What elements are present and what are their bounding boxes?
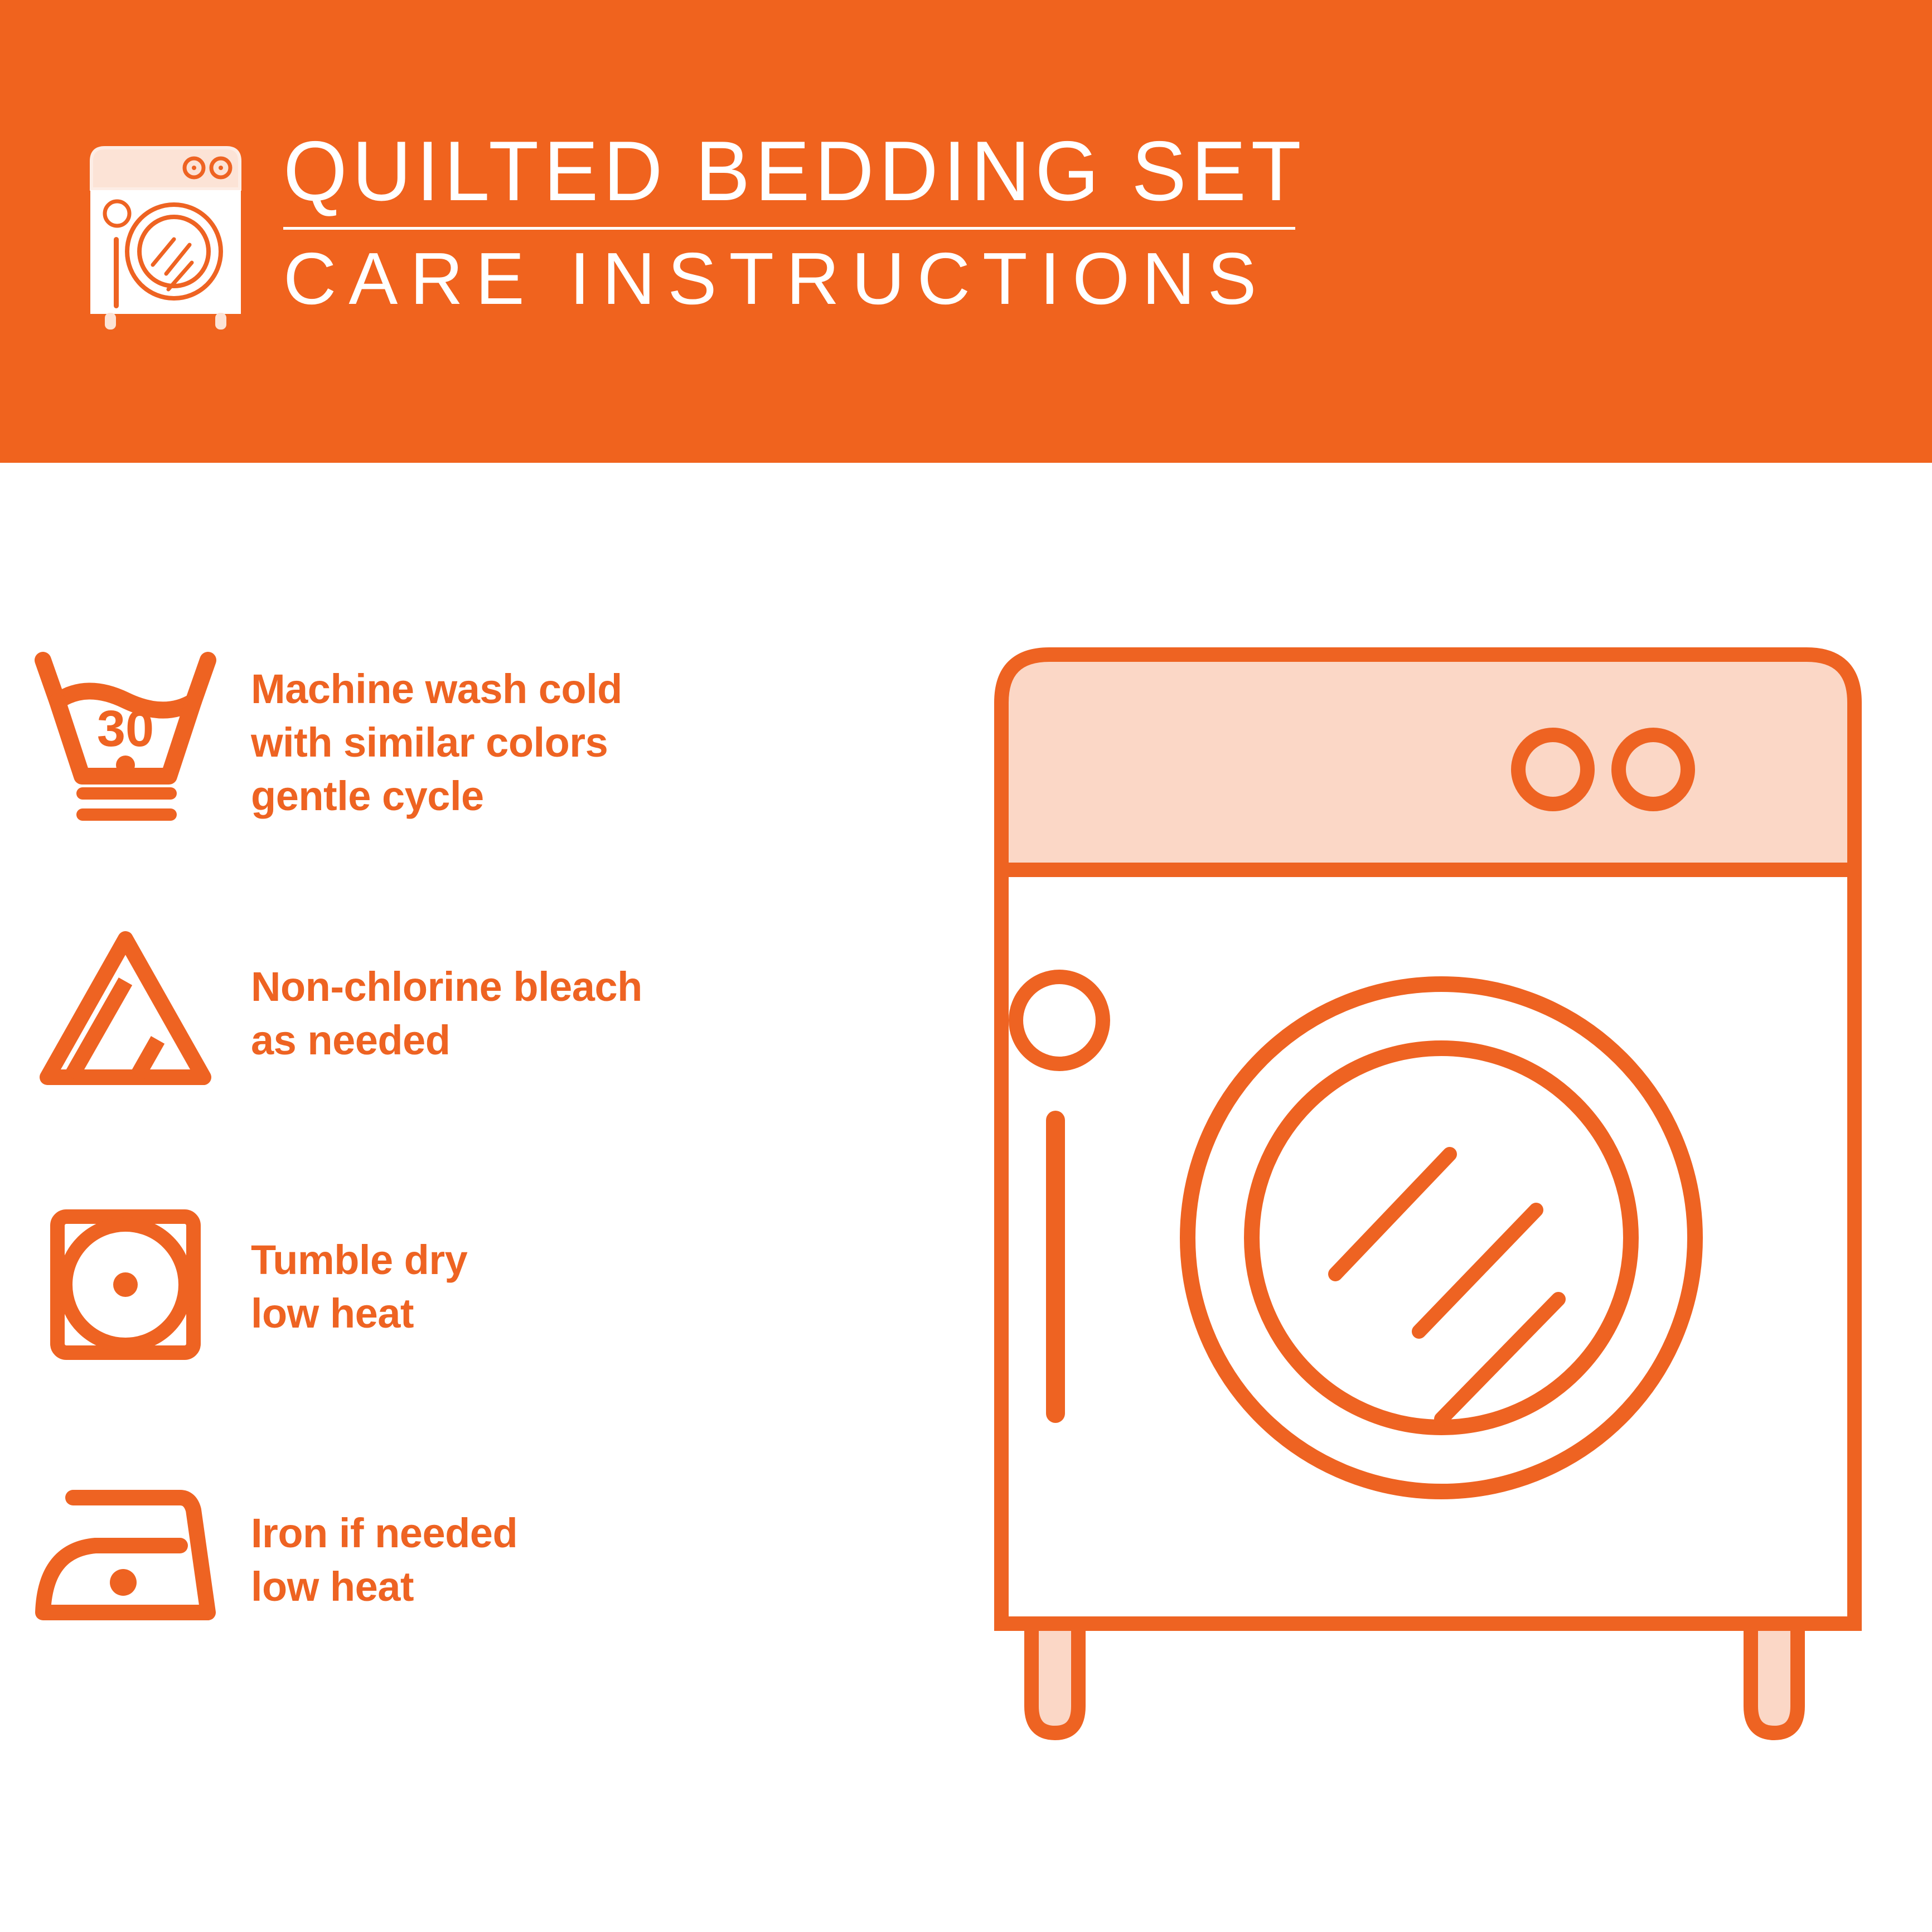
care-text-tumble-dry: Tumble dry low heat — [251, 1188, 467, 1340]
care-row-iron: Iron if needed low heat — [0, 1461, 948, 1734]
title-divider — [283, 227, 1295, 230]
washing-machine-icon — [85, 135, 246, 331]
iron-low-heat-icon — [0, 1461, 251, 1656]
care-text-iron: Iron if needed low heat — [251, 1461, 517, 1614]
wash-tub-30-icon: 30 — [0, 641, 251, 836]
vertical-bar-indicator — [1046, 1111, 1065, 1423]
care-instructions-list: 30 Machine wash cold with similar colors… — [0, 641, 948, 1734]
knob-right — [1619, 735, 1688, 804]
header-text-block: QUILTED BEDDING SET CARE INSTRUCTIONS — [283, 128, 1304, 316]
care-row-bleach: Non-chlorine bleach as needed — [0, 914, 948, 1188]
top-control-panel — [1001, 655, 1854, 870]
care-row-wash: 30 Machine wash cold with similar colors… — [0, 641, 948, 914]
tumble-dry-low-icon — [0, 1188, 251, 1383]
knob-left — [1518, 735, 1587, 804]
page-title: QUILTED BEDDING SET — [283, 128, 1273, 215]
washing-machine-illustration — [970, 630, 1885, 1834]
page-subtitle: CARE INSTRUCTIONS — [283, 242, 1304, 316]
wash-temperature-label: 30 — [97, 700, 154, 757]
care-text-wash: Machine wash cold with similar colors ge… — [251, 641, 622, 824]
non-chlorine-bleach-triangle-icon — [0, 914, 251, 1110]
header-banner: QUILTED BEDDING SET CARE INSTRUCTIONS — [0, 0, 1932, 463]
care-row-tumble-dry: Tumble dry low heat — [0, 1188, 948, 1461]
care-text-bleach: Non-chlorine bleach as needed — [251, 914, 642, 1067]
